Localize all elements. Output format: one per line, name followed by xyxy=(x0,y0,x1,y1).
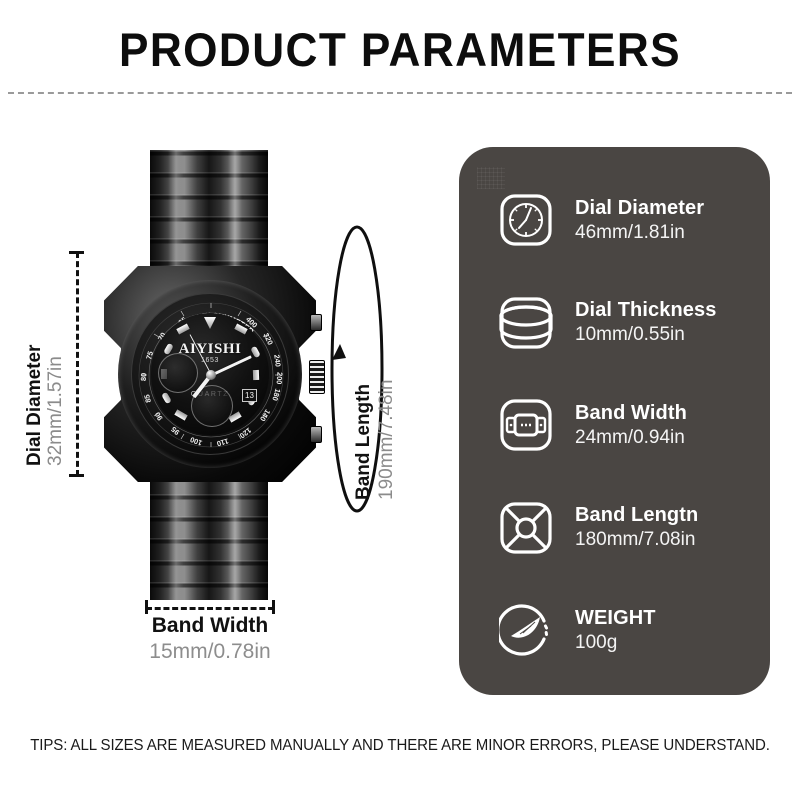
band-length-callout-value: 190mm/7.48in xyxy=(375,380,398,500)
spec-value: 24mm/0.94in xyxy=(575,426,687,450)
clock-icon xyxy=(499,193,553,247)
watch-band-length-icon xyxy=(499,501,553,555)
dial-diameter-callout: Dial Diameter 32mm/1.57in xyxy=(24,345,66,466)
chrono-pusher-top xyxy=(310,314,322,331)
svg-text:140: 140 xyxy=(258,408,272,423)
spec-row-band-width: Band Width 24mm/0.94in xyxy=(499,386,752,464)
spec-value: 180mm/7.08in xyxy=(575,528,698,552)
subdial-left xyxy=(158,353,198,393)
watch-case: 60 TACHYMETER 65 70 75 80 85 90 95 100 1… xyxy=(104,248,316,500)
hour-marker-11 xyxy=(176,324,189,335)
svg-text:110: 110 xyxy=(216,436,230,448)
page-title: PRODUCT PARAMETERS xyxy=(24,22,776,77)
spec-label: Dial Thickness xyxy=(575,298,716,322)
dial-diameter-callout-label: Dial Diameter xyxy=(24,345,45,466)
band-width-dimension-line xyxy=(146,607,274,610)
band-width-callout-value: 15mm/0.78in xyxy=(96,640,324,664)
band-width-callout: Band Width 15mm/0.78in xyxy=(96,614,324,664)
spec-row-dial-diameter: Dial Diameter 46mm/1.81in xyxy=(499,181,752,259)
specifications-panel: Dial Diameter 46mm/1.81in Dial Thickness… xyxy=(459,147,770,695)
product-parameters-page: PRODUCT PARAMETERS xyxy=(0,0,800,800)
date-window: 13 xyxy=(242,389,257,402)
spec-value: 100g xyxy=(575,631,656,655)
svg-text:180: 180 xyxy=(270,388,282,402)
spec-row-weight: WEIGHT 100g xyxy=(499,591,752,669)
spec-label: WEIGHT xyxy=(575,606,656,630)
svg-text:120: 120 xyxy=(238,426,253,441)
svg-text:200: 200 xyxy=(274,372,284,385)
svg-text:80: 80 xyxy=(139,373,148,382)
disc-thickness-icon xyxy=(499,296,553,350)
svg-text:240: 240 xyxy=(272,354,282,367)
spec-row-dial-thickness: Dial Thickness 10mm/0.55in xyxy=(499,284,752,362)
spec-value: 46mm/1.81in xyxy=(575,221,704,245)
hour-marker-1 xyxy=(234,324,247,335)
watch-band-width-icon xyxy=(499,398,553,452)
dial-diameter-callout-value: 32mm/1.57in xyxy=(45,345,66,466)
spec-label: Band Lengtn xyxy=(575,503,698,527)
dial-diameter-cap-bottom xyxy=(69,474,84,477)
feather-weight-icon xyxy=(499,603,553,657)
watch-illustration: 60 TACHYMETER 65 70 75 80 85 90 95 100 1… xyxy=(96,150,336,600)
spec-value: 10mm/0.55in xyxy=(575,323,716,347)
hour-marker-7 xyxy=(174,409,187,420)
chrono-pusher-bottom xyxy=(310,426,322,443)
band-width-cap-right xyxy=(272,600,275,614)
band-width-callout-label: Band Width xyxy=(96,614,324,638)
title-divider xyxy=(8,92,792,94)
hands-center-cap xyxy=(206,370,216,380)
spec-label: Dial Diameter xyxy=(575,196,704,220)
hour-marker-12 xyxy=(204,317,216,329)
spec-row-band-length: Band Lengtn 180mm/7.08in xyxy=(499,489,752,567)
hour-marker-3 xyxy=(253,370,259,380)
footer-tip-text: TIPS: ALL SIZES ARE MEASURED MANUALLY AN… xyxy=(12,737,788,755)
band-length-callout: Band Length 190mm/7.48in xyxy=(352,380,398,500)
svg-text:100: 100 xyxy=(189,435,204,448)
dial-diameter-dimension-line xyxy=(76,252,79,476)
spec-label: Band Width xyxy=(575,401,687,425)
watch-dial: AIYISHI 1653 QUARTZ 13 xyxy=(151,313,269,435)
case-ring: 60 TACHYMETER 65 70 75 80 85 90 95 100 1… xyxy=(118,280,302,468)
tachymeter-bezel: 60 TACHYMETER 65 70 75 80 85 90 95 100 1… xyxy=(131,293,289,455)
band-length-callout-label: Band Length xyxy=(352,380,375,500)
